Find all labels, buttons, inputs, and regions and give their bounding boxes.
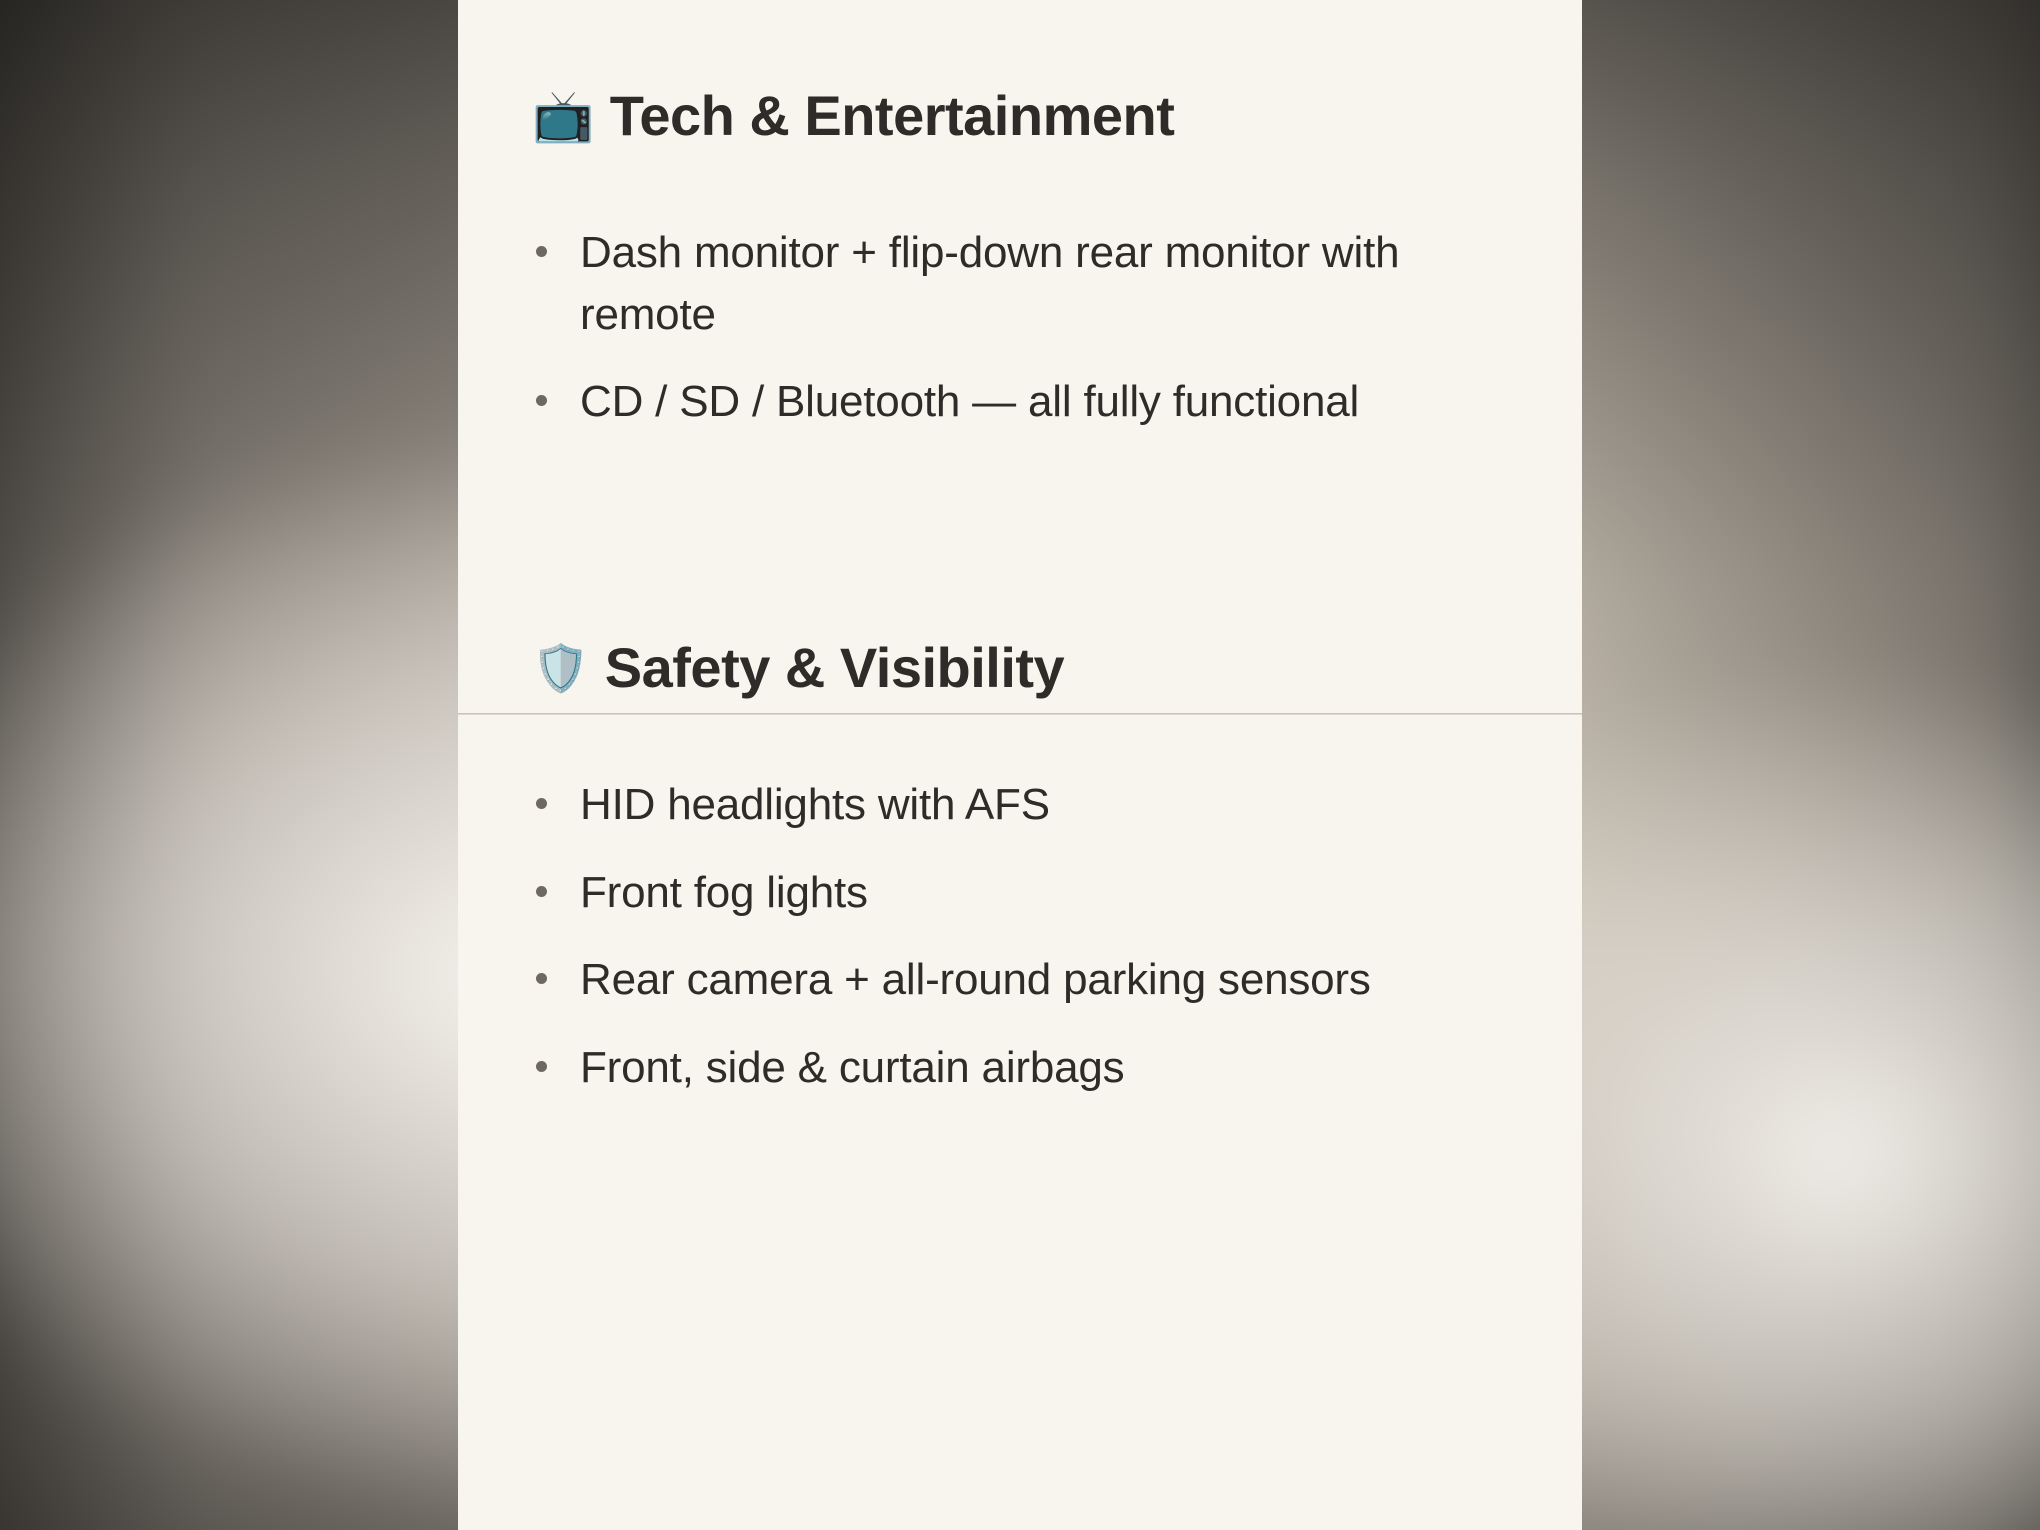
list-item-label: Dash monitor + flip-down rear monitor wi…	[580, 228, 1399, 339]
television-icon: 📺	[532, 91, 594, 141]
list-item: HID headlights with AFS	[532, 774, 1508, 836]
list-item: Dash monitor + flip-down rear monitor wi…	[532, 222, 1508, 345]
list-item: Front, side & curtain airbags	[532, 1037, 1508, 1099]
list-item: Rear camera + all-round parking sensors	[532, 949, 1508, 1011]
section-heading-tech: 📺 Tech & Entertainment	[532, 88, 1508, 144]
bullet-dot-icon	[536, 973, 547, 984]
list-item-label: CD / SD / Bluetooth — all fully function…	[580, 377, 1359, 426]
section-safety-visibility: 🛡️ Safety & Visibility HID headlights wi…	[458, 640, 1582, 1098]
document-card: 📺 Tech & Entertainment Dash monitor + fl…	[458, 0, 1582, 1530]
section-tech-entertainment: 📺 Tech & Entertainment Dash monitor + fl…	[458, 88, 1582, 433]
bullet-list-tech: Dash monitor + flip-down rear monitor wi…	[532, 222, 1508, 433]
section-heading-safety: 🛡️ Safety & Visibility	[532, 640, 1508, 696]
list-item-label: Front fog lights	[580, 868, 868, 917]
bullet-dot-icon	[536, 246, 547, 257]
shield-icon: 🛡️	[532, 645, 589, 691]
bullet-dot-icon	[536, 1061, 547, 1072]
section-title-safety: Safety & Visibility	[605, 640, 1064, 696]
list-item-label: Front, side & curtain airbags	[580, 1043, 1124, 1092]
bullet-dot-icon	[536, 395, 547, 406]
list-item: Front fog lights	[532, 862, 1508, 924]
list-item: CD / SD / Bluetooth — all fully function…	[532, 371, 1508, 433]
bullet-list-safety: HID headlights with AFS Front fog lights…	[532, 774, 1508, 1098]
list-item-label: Rear camera + all-round parking sensors	[580, 955, 1371, 1004]
list-item-label: HID headlights with AFS	[580, 780, 1050, 829]
section-title-tech: Tech & Entertainment	[610, 88, 1175, 144]
bullet-dot-icon	[536, 798, 547, 809]
bullet-dot-icon	[536, 886, 547, 897]
